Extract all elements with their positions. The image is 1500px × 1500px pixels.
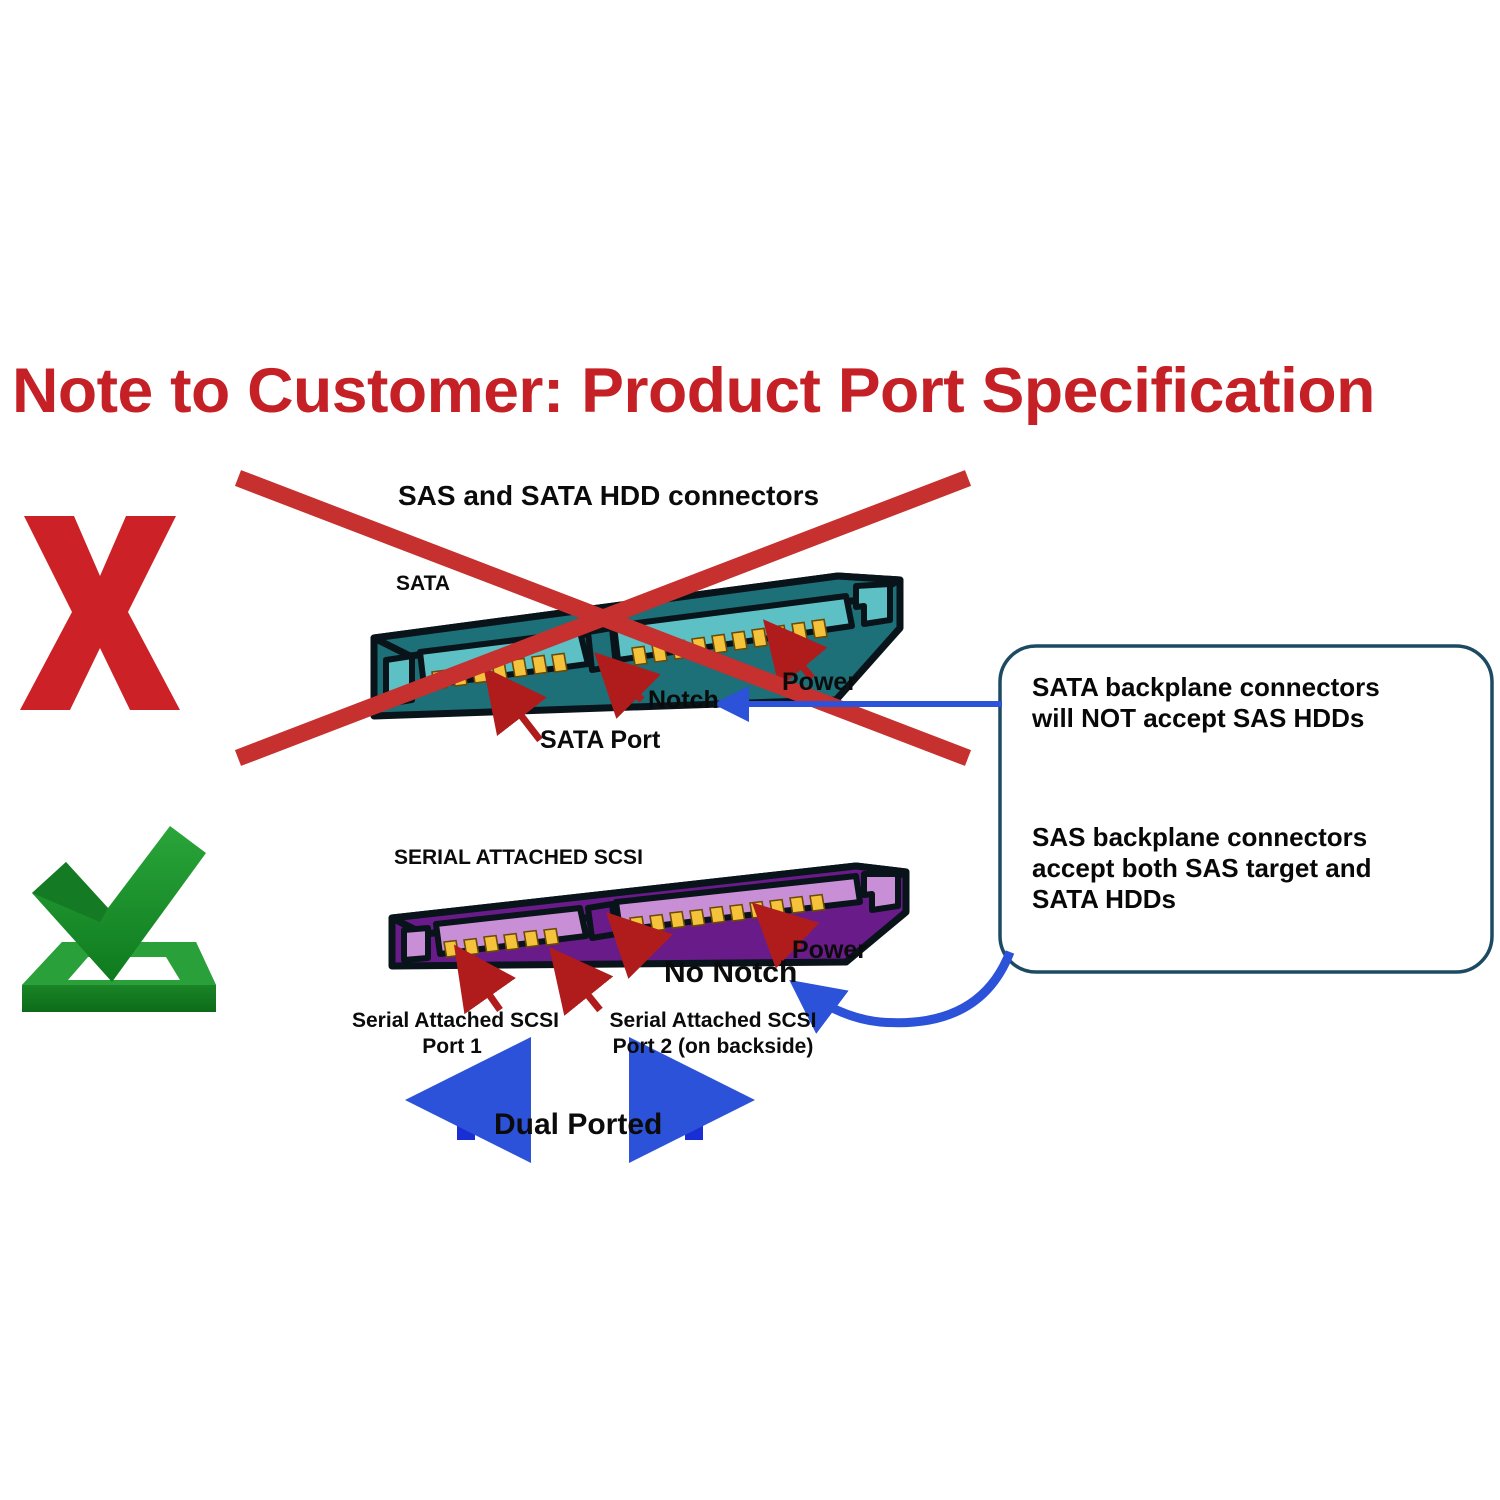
diagram-canvas: Note to Customer: Product Port Specifica… (0, 0, 1500, 1500)
sata-port-label: SATA Port (540, 726, 660, 755)
illustration-layer (0, 0, 1500, 1500)
sas-power-label: Power (792, 936, 867, 965)
diagram-heading: SAS and SATA HDD connectors (398, 480, 819, 512)
sata-type-label: SATA (396, 572, 450, 596)
callout-note-sas: SAS backplane connectorsaccept both SAS … (1032, 822, 1472, 915)
red-x-icon (20, 516, 180, 710)
sas-port1-label: Serial Attached SCSIPort 1 (352, 1008, 552, 1060)
sas-port2-label: Serial Attached SCSIPort 2 (on backside) (608, 1008, 818, 1060)
sas-type-label: SERIAL ATTACHED SCSI (394, 846, 643, 870)
sata-notch-label: Notch (648, 686, 719, 715)
callout-note-sata: SATA backplane connectorswill NOT accept… (1032, 672, 1472, 734)
dual-ported-label: Dual Ported (494, 1108, 662, 1142)
sata-power-label: Power (782, 668, 857, 697)
sas-no-notch-label: No Notch (664, 956, 797, 990)
green-check-icon (22, 826, 216, 1012)
